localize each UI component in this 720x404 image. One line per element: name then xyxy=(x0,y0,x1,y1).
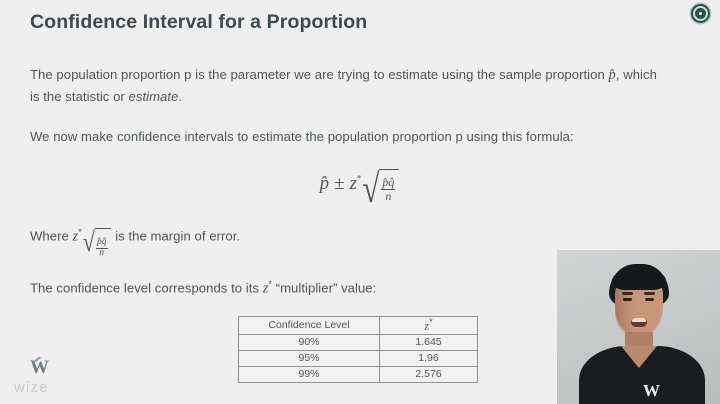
header-z-star-mark: * xyxy=(429,317,433,327)
p1-text-part1: The population proportion p is the param… xyxy=(30,67,609,82)
radical-content: p̂q̂ n xyxy=(95,228,111,259)
p3-suffix: is the margin of error. xyxy=(112,228,241,243)
radical-sign: √ xyxy=(362,168,379,212)
p4-suffix: “multiplier” value: xyxy=(272,280,376,295)
instructor-eye-right xyxy=(645,298,654,301)
paragraph-multiplier: The confidence level corresponds to its … xyxy=(30,274,376,299)
cell-confidence-level: 90% xyxy=(239,334,380,350)
p1-text-part3: . xyxy=(178,89,182,104)
paragraph-margin-of-error: Where z* √ p̂q̂ n is the margin of error… xyxy=(30,222,240,259)
instructor-eyebrow-left xyxy=(622,292,633,295)
paragraph-population-proportion: The population proportion p is the param… xyxy=(30,64,660,107)
radical-sign: √ xyxy=(83,229,95,269)
p1-emphasis-estimate: estimate xyxy=(129,89,179,104)
p-hat-symbol: p̂ xyxy=(609,67,616,83)
table-row: 90% 1.645 xyxy=(239,334,478,350)
slide-canvas: Confidence Interval for a Proportion The… xyxy=(0,0,720,404)
instructor-teeth xyxy=(632,318,646,322)
formula-plus-minus: ± xyxy=(334,173,344,194)
shirt-wize-logo-icon: W xyxy=(643,382,659,399)
fraction-numerator: p̂q̂ xyxy=(96,238,108,248)
wize-mark-icon: W xyxy=(30,358,48,377)
cell-z-value: 2.576 xyxy=(380,366,478,382)
wize-logo: W wize xyxy=(14,358,76,398)
formula-fraction: p̂q̂ n xyxy=(381,176,395,202)
header-confidence-level: Confidence Level xyxy=(239,317,380,335)
instructor-fringe xyxy=(612,270,666,290)
instructor-eye-left xyxy=(623,298,632,301)
instructor-eyebrow-right xyxy=(644,292,655,295)
header-z-star: z* xyxy=(380,317,478,335)
record-dot xyxy=(699,12,703,16)
p3-prefix: Where xyxy=(30,228,73,243)
formula-phat: p̂ xyxy=(320,173,330,194)
table-body: 90% 1.645 95% 1.96 99% 2.576 xyxy=(239,334,478,382)
formula-z-star: * xyxy=(357,174,362,184)
cell-z-value: 1.96 xyxy=(380,350,478,366)
formula-radical: √ p̂q̂ n xyxy=(362,168,399,202)
p3-fraction: p̂q̂ n xyxy=(96,238,108,259)
fraction-denominator: n xyxy=(96,248,108,259)
confidence-interval-formula: p̂±z* √ p̂q̂ n xyxy=(0,168,720,202)
table-header-row: Confidence Level z* xyxy=(239,317,478,335)
p3-radical: √ p̂q̂ n xyxy=(83,227,111,259)
cell-z-value: 1.645 xyxy=(380,334,478,350)
cell-confidence-level: 95% xyxy=(239,350,380,366)
p3-z-star: * xyxy=(78,227,82,237)
wize-wordmark: wize xyxy=(14,379,49,396)
p4-prefix: The confidence level corresponds to its xyxy=(30,280,263,295)
instructor-mouth xyxy=(631,318,647,327)
paragraph-formula-intro: We now make confidence intervals to esti… xyxy=(30,126,670,147)
table-row: 99% 2.576 xyxy=(239,366,478,382)
page-title: Confidence Interval for a Proportion xyxy=(30,11,367,34)
record-ring xyxy=(693,6,708,21)
fraction-numerator: p̂q̂ xyxy=(381,176,395,189)
table-head: Confidence Level z* xyxy=(239,317,478,335)
radical-content: p̂q̂ n xyxy=(379,169,399,202)
formula-z: z xyxy=(350,173,357,194)
instructor-video-overlay[interactable]: W xyxy=(557,250,720,404)
record-target-icon[interactable] xyxy=(691,4,710,23)
z-star-table: Confidence Level z* 90% 1.645 95% 1.96 9… xyxy=(238,316,478,383)
cell-confidence-level: 99% xyxy=(239,366,380,382)
fraction-denominator: n xyxy=(381,189,395,203)
table-row: 95% 1.96 xyxy=(239,350,478,366)
